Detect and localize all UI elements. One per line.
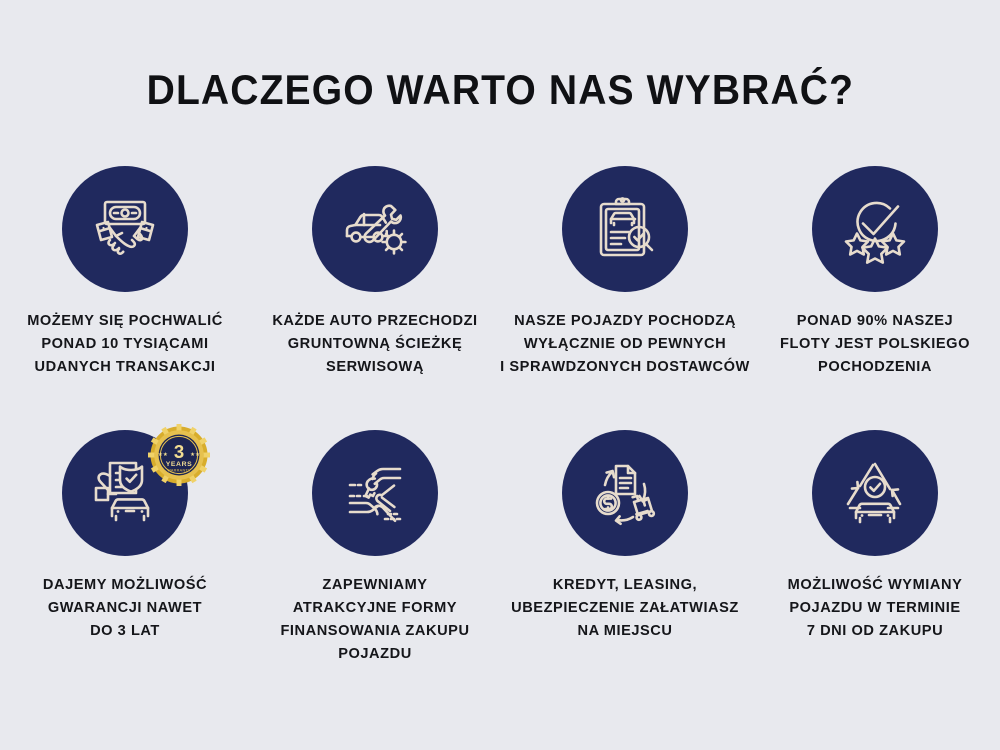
caption-line: KREDYT, LEASING, — [511, 574, 739, 597]
benefit-item-polish-fleet: PONAD 90% NASZEJ FLOTY JEST POLSKIEGO PO… — [750, 166, 1000, 428]
three-years-warranty-badge: 3 ★★ ★★ YEARS WARRANTY — [148, 424, 210, 486]
car-exchange-arrows-check-icon — [838, 456, 912, 530]
icon-badge — [562, 430, 688, 556]
caption-line: POJAZDU W TERMINIE — [788, 597, 963, 620]
badge-stars-right: ★★ — [190, 451, 200, 458]
caption-line: POJAZDU — [280, 643, 469, 666]
badge-stars-left: ★★ — [158, 451, 168, 458]
caption-line: PONAD 90% NASZEJ — [780, 310, 970, 333]
benefit-item-transactions: MOŻEMY SIĘ POCHWALIĆ PONAD 10 TYSIĄCAMI … — [0, 166, 250, 428]
icon-circle — [812, 430, 938, 556]
caption-line: KAŻDE AUTO PRZECHODZI — [272, 310, 477, 333]
icon-circle — [812, 166, 938, 292]
caption-line: MOŻEMY SIĘ POCHWALIĆ — [27, 310, 223, 333]
benefit-item-warranty: 3 ★★ ★★ YEARS WARRANTY DAJEMY MOŻLIWOŚĆ … — [0, 428, 250, 690]
icon-badge — [312, 430, 438, 556]
caption-line: GRUNTOWNĄ ŚCIEŻKĘ — [272, 333, 477, 356]
benefit-item-suppliers: NASZE POJAZDY POCHODZĄ WYŁĄCZNIE OD PEWN… — [500, 166, 750, 428]
document-cart-coin-cycle-icon — [588, 456, 662, 530]
badge-number: 3 — [174, 441, 184, 462]
caption-line: UBEZPIECZENIE ZAŁATWIASZ — [511, 597, 739, 620]
clipboard-car-inspection-icon — [588, 192, 662, 266]
badge-label: YEARS — [166, 461, 193, 468]
icon-badge — [562, 166, 688, 292]
page-title: DLACZEGO WARTO NAS WYBRAĆ? — [146, 66, 853, 114]
caption-line: SERWISOWĄ — [272, 356, 477, 379]
caption-line: WYŁĄCZNIE OD PEWNYCH — [500, 333, 750, 356]
caption-line: ATRAKCYJNE FORMY — [280, 597, 469, 620]
caption-line: NA MIEJSCU — [511, 620, 739, 643]
caption-line: POCHODZENIA — [780, 356, 970, 379]
benefit-item-credit-leasing: KREDYT, LEASING, UBEZPIECZENIE ZAŁATWIAS… — [500, 428, 750, 690]
benefit-item-financing: ZAPEWNIAMY ATRAKCYJNE FORMY FINANSOWANIA… — [250, 428, 500, 690]
benefit-caption: MOŻEMY SIĘ POCHWALIĆ PONAD 10 TYSIĄCAMI … — [27, 310, 223, 379]
caption-line: FLOTY JEST POLSKIEGO — [780, 333, 970, 356]
benefit-caption: PONAD 90% NASZEJ FLOTY JEST POLSKIEGO PO… — [780, 310, 970, 379]
check-stars-quality-icon — [838, 192, 912, 266]
icon-badge: 3 ★★ ★★ YEARS WARRANTY — [62, 430, 188, 556]
benefit-caption: DAJEMY MOŻLIWOŚĆ GWARANCJI NAWET DO 3 LA… — [43, 574, 207, 643]
caption-line: NASZE POJAZDY POCHODZĄ — [500, 310, 750, 333]
car-service-wrench-gear-icon — [338, 192, 412, 266]
icon-circle — [562, 430, 688, 556]
caption-line: ZAPEWNIAMY — [280, 574, 469, 597]
icon-circle — [62, 166, 188, 292]
benefit-caption: NASZE POJAZDY POCHODZĄ WYŁĄCZNIE OD PEWN… — [500, 310, 750, 379]
caption-line: 7 DNI OD ZAKUPU — [788, 620, 963, 643]
caption-line: DAJEMY MOŻLIWOŚĆ — [43, 574, 207, 597]
icon-badge — [812, 166, 938, 292]
caption-line: PONAD 10 TYSIĄCAMI — [27, 333, 223, 356]
caption-line: DO 3 LAT — [43, 620, 207, 643]
hands-key-money-exchange-icon — [338, 456, 412, 530]
caption-line: UDANYCH TRANSAKCJI — [27, 356, 223, 379]
benefit-item-service: KAŻDE AUTO PRZECHODZI GRUNTOWNĄ ŚCIEŻKĘ … — [250, 166, 500, 428]
badge-sublabel: WARRANTY — [167, 469, 191, 473]
benefit-caption: ZAPEWNIAMY ATRAKCYJNE FORMY FINANSOWANIA… — [280, 574, 469, 666]
icon-badge — [62, 166, 188, 292]
benefit-caption: KAŻDE AUTO PRZECHODZI GRUNTOWNĄ ŚCIEŻKĘ … — [272, 310, 477, 379]
icon-circle — [312, 166, 438, 292]
benefit-caption: MOŻLIWOŚĆ WYMIANY POJAZDU W TERMINIE 7 D… — [788, 574, 963, 643]
caption-line: MOŻLIWOŚĆ WYMIANY — [788, 574, 963, 597]
icon-circle — [562, 166, 688, 292]
handshake-money-icon — [88, 192, 162, 266]
icon-circle — [312, 430, 438, 556]
benefit-caption: KREDYT, LEASING, UBEZPIECZENIE ZAŁATWIAS… — [511, 574, 739, 643]
benefit-item-exchange: MOŻLIWOŚĆ WYMIANY POJAZDU W TERMINIE 7 D… — [750, 428, 1000, 690]
icon-badge — [812, 430, 938, 556]
benefits-grid: MOŻEMY SIĘ POCHWALIĆ PONAD 10 TYSIĄCAMI … — [0, 166, 1000, 690]
icon-badge — [312, 166, 438, 292]
caption-line: GWARANCJI NAWET — [43, 597, 207, 620]
caption-line: FINANSOWANIA ZAKUPU — [280, 620, 469, 643]
caption-line: I SPRAWDZONYCH DOSTAWCÓW — [500, 356, 750, 379]
benefits-infographic: DLACZEGO WARTO NAS WYBRAĆ? — [0, 0, 1000, 750]
